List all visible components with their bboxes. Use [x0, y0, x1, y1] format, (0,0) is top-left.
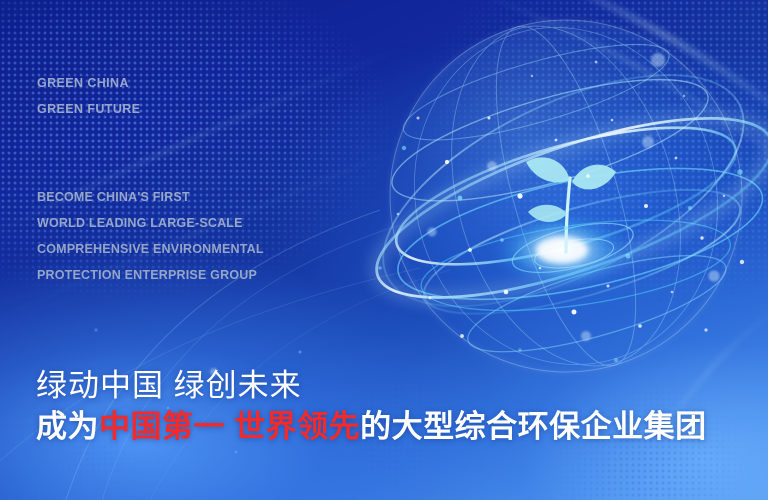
headline-cn-highlight: 中国第一 世界领先 [99, 409, 360, 444]
globe-latitudes [359, 15, 768, 383]
slogan-en-main-line-3: COMPREHENSIVE ENVIRONMENTAL [37, 236, 264, 262]
hero-banner: GREEN CHINA GREEN FUTURE BECOME CHINA'S … [0, 0, 768, 500]
core-swirl [508, 214, 638, 283]
globe-sphere [350, 0, 768, 401]
orbit-rings [350, 27, 768, 353]
headline-cn-line-1: 绿动中国 绿创未来 [36, 366, 707, 406]
slogan-en-top-line-2: GREEN FUTURE [37, 96, 140, 122]
headline-cn: 绿动中国 绿创未来 成为中国第一 世界领先的大型综合环保企业集团 [36, 366, 707, 448]
core-hotspot [536, 237, 588, 263]
core-glow [488, 210, 636, 290]
slogan-en-top: GREEN CHINA GREEN FUTURE [37, 70, 140, 122]
ring-glow [357, 82, 768, 335]
slogan-en-top-line-1: GREEN CHINA [37, 70, 140, 96]
green-sprout-icon [526, 157, 616, 252]
slogan-en-main-line-2: WORLD LEADING LARGE-SCALE [37, 210, 264, 236]
slogan-en-main-line-1: BECOME CHINA'S FIRST [37, 184, 264, 210]
slogan-en-main-line-4: PROTECTION ENTERPRISE GROUP [37, 262, 264, 288]
headline-cn-prefix: 成为 [36, 409, 99, 444]
headline-cn-suffix: 的大型综合环保企业集团 [360, 409, 707, 444]
headline-cn-line-2: 成为中国第一 世界领先的大型综合环保企业集团 [36, 406, 707, 448]
slogan-en-main: BECOME CHINA'S FIRST WORLD LEADING LARGE… [37, 184, 264, 288]
globe-meridians [375, 0, 757, 401]
